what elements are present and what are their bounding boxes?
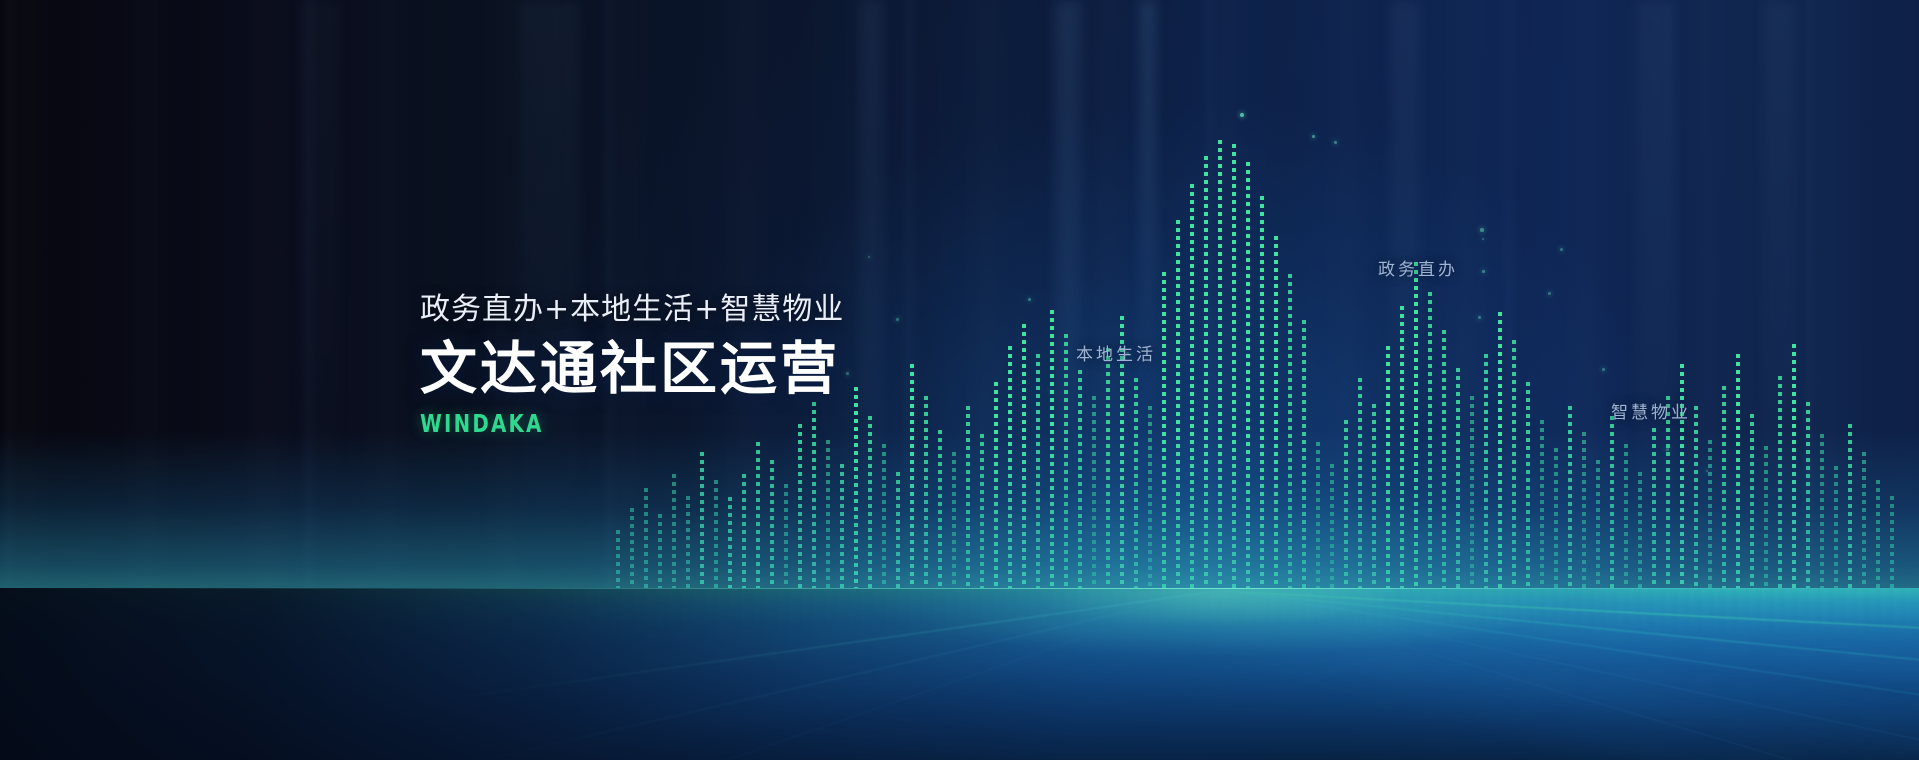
skyline-column [1456,368,1467,592]
skyline-column [1596,460,1607,592]
skyline-column [1232,144,1243,592]
skyline-column [1470,396,1481,592]
skyline-column [1344,420,1355,592]
skyline-column [728,497,739,592]
skyline-column [714,480,725,592]
skyline-column [700,452,711,592]
skyline-column [1652,428,1663,592]
skyline-column [854,387,865,592]
skyline-column [1106,348,1117,592]
skyline-column [1386,346,1397,592]
skyline-column [1036,354,1047,592]
skyline-column [1694,406,1705,592]
skyline-column [924,396,935,592]
skyline-column [994,382,1005,592]
skyline-column [798,424,809,592]
skyline-column [1708,440,1719,592]
skyline-column [1330,464,1341,592]
skyline-column [1078,370,1089,592]
skyline-column [1610,416,1621,592]
city-label-2: 政务直办 [1378,255,1458,280]
skyline-column [658,514,669,592]
skyline-column [1064,334,1075,592]
banner-subtitle: 政务直办+本地生活+智慧物业 [420,292,844,328]
skyline-column [1008,346,1019,592]
skyline-column [882,444,893,592]
skyline-column [1722,386,1733,592]
skyline-column [1624,444,1635,592]
skyline-column [1876,480,1887,592]
skyline-column [1540,420,1551,592]
skyline-column [1638,472,1649,592]
skyline-column [1358,378,1369,592]
skyline-column [1764,446,1775,592]
skyline-column [1792,344,1803,592]
skyline-column [756,442,767,592]
skyline-column [896,472,907,592]
skyline-column [1526,382,1537,592]
skyline-column [868,416,879,592]
skyline-column [1890,496,1901,592]
skyline-column [1582,432,1593,592]
skyline-column [1750,414,1761,592]
skyline-column [1862,452,1873,592]
brand-wordmark: WINDAKA [420,409,793,438]
skyline-column [1302,320,1313,592]
skyline-column [770,460,781,592]
skyline-column [1260,196,1271,592]
skyline-column [644,488,655,592]
skyline-column [1848,424,1859,592]
skyline-column [1274,236,1285,592]
skyline-column [1568,406,1579,592]
skyline-column [1176,220,1187,592]
skyline-column [1498,312,1509,592]
skyline-column [630,508,641,592]
skyline-column [910,364,921,592]
skyline-column [1400,306,1411,592]
skyline-column [1050,310,1061,592]
skyline-column [784,484,795,592]
skyline-column [1414,262,1425,592]
skyline-column [1162,272,1173,592]
skyline-column [1092,396,1103,592]
skyline-column [1778,376,1789,592]
horizon-line [0,588,1919,589]
skyline-column [1288,274,1299,592]
skyline-column [672,474,683,592]
banner-headline: 文达通社区运营 [420,338,844,402]
skyline-column [980,434,991,592]
skyline-column [1442,330,1453,592]
skyline-column [938,430,949,592]
skyline-column [1148,406,1159,592]
skyline-column [1428,292,1439,592]
city-label-1: 本地生活 [1076,340,1156,365]
skyline-column [1820,434,1831,592]
skyline-column [1204,156,1215,592]
perspective-ground [0,588,1919,760]
skyline-column [1022,324,1033,592]
skyline-column [1554,448,1565,592]
headline-block: 政务直办+本地生活+智慧物业 文达通社区运营 WINDAKA [420,292,844,438]
skyline-column [1806,402,1817,592]
skyline-column [1190,184,1201,592]
skyline-column [616,530,627,592]
skyline-column [966,406,977,592]
ground-left-shadow [0,588,1919,760]
skyline-column [826,440,837,592]
skyline-column [1246,162,1257,592]
skyline-column [686,496,697,592]
skyline-column [840,464,851,592]
dot-matrix-skyline [0,0,1919,600]
skyline-column [1218,140,1229,592]
skyline-column [1316,442,1327,592]
skyline-column [1666,396,1677,592]
skyline-column [952,452,963,592]
skyline-column [1834,466,1845,592]
skyline-column [1484,354,1495,592]
hero-banner: 本地生活政务直办智慧物业 政务直办+本地生活+智慧物业 文达通社区运营 WIND… [0,0,1919,760]
city-label-3: 智慧物业 [1611,398,1691,423]
skyline-column [1372,404,1383,592]
skyline-column [1512,340,1523,592]
skyline-column [1736,354,1747,592]
skyline-column [1134,378,1145,592]
skyline-column [742,474,753,592]
